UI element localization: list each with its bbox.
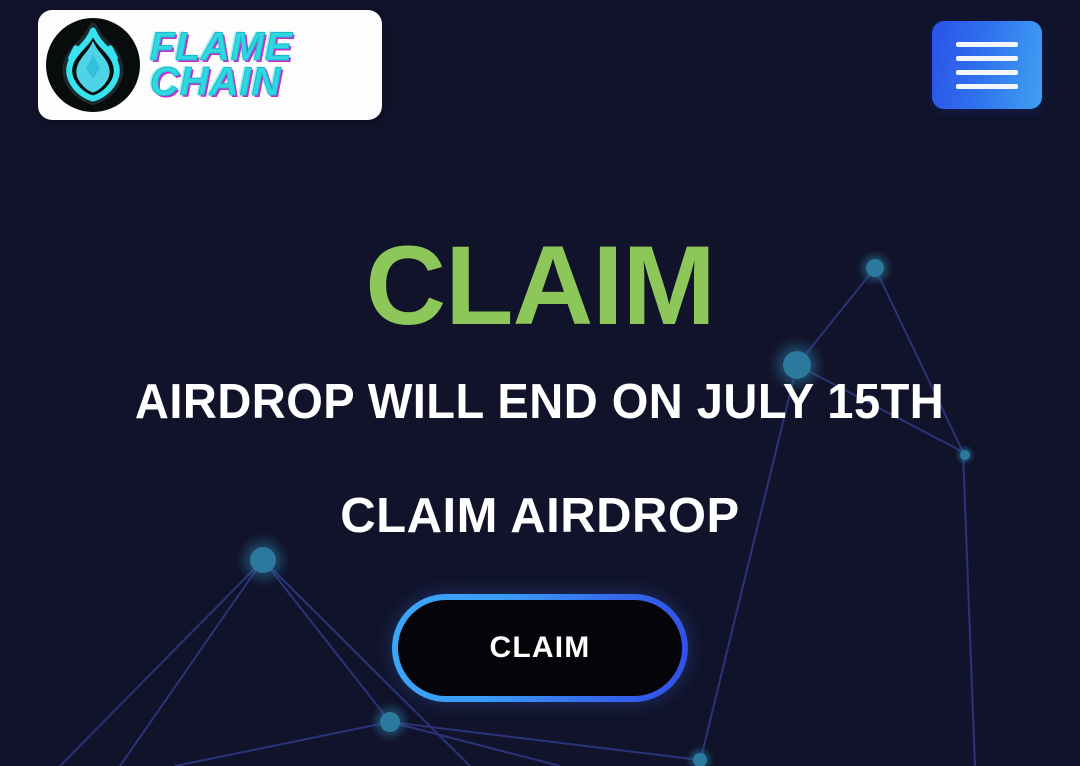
menu-bar-4 <box>956 84 1018 89</box>
hero-section: CLAIM AIRDROP WILL END ON JULY 15TH CLAI… <box>0 135 1080 766</box>
site-header: FLAME CHAIN <box>0 0 1080 135</box>
brand-logo[interactable]: FLAME CHAIN <box>38 10 382 120</box>
claim-button-label: CLAIM <box>490 631 591 665</box>
airdrop-deadline-text: AIRDROP WILL END ON JULY 15TH <box>135 374 944 430</box>
page-root: FLAME CHAIN CLAIM AIRDROP WILL END ON JU… <box>0 0 1080 766</box>
menu-bar-3 <box>956 70 1018 75</box>
claim-button-surface: CLAIM <box>398 600 682 696</box>
claim-airdrop-heading: CLAIM AIRDROP <box>340 488 739 544</box>
claim-button[interactable]: CLAIM <box>392 594 688 702</box>
menu-bar-1 <box>956 42 1018 47</box>
menu-bar-2 <box>956 56 1018 61</box>
page-title: CLAIM <box>365 237 715 336</box>
brand-wordmark: FLAME CHAIN <box>150 18 382 112</box>
flame-icon <box>46 18 140 112</box>
hamburger-menu-icon[interactable] <box>932 21 1042 109</box>
wordmark-line-2: CHAIN <box>150 64 382 101</box>
